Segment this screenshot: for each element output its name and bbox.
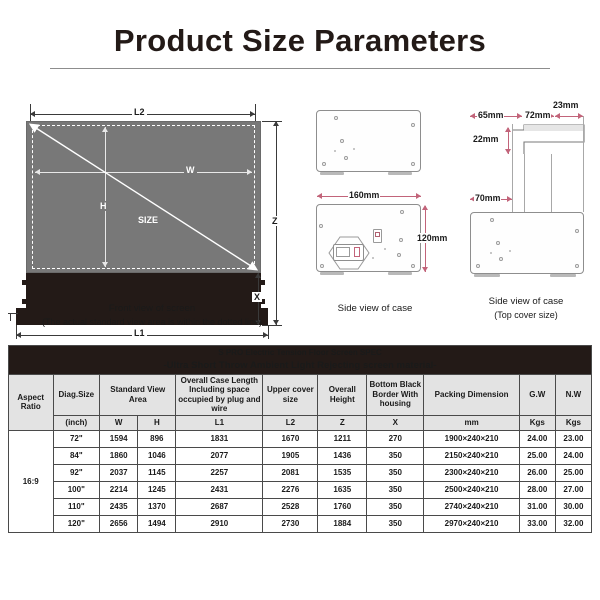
case-bracket-indicator (354, 247, 360, 257)
side-view-case-diagram: 160mm 120mm Side view of case (300, 96, 450, 342)
cell-z: 1535 (318, 464, 367, 481)
cell-w: 2435 (100, 498, 138, 515)
top-cover-edge-left (512, 124, 513, 212)
top-cover-base-panel (470, 212, 584, 274)
header-overall-height: Overall Height (318, 374, 367, 415)
case-upper-foot-right (388, 172, 412, 175)
side-view-case-caption-main: Side view of case (300, 303, 450, 316)
case-upper-hole-lower-mid (344, 156, 348, 160)
top-cover-profile-outline (512, 124, 590, 154)
top-cover-dot-b (509, 250, 511, 252)
front-view-caption: Front view of screen (The actual standar… (6, 303, 298, 328)
title-block: Product Size Parameters (0, 24, 600, 69)
top-cover-23mm-label: 23mm (552, 100, 579, 110)
unit-gross-weight: Kgs (519, 415, 555, 430)
case-lower-dot-a (384, 248, 386, 250)
cell-w: 1860 (100, 447, 138, 464)
cell-packing: 1900×240×210 (424, 430, 519, 447)
top-cover-70mm-label: 70mm (474, 193, 501, 203)
table-header-row-primary: Aspect Ratio Diag.Size Standard View Are… (9, 374, 592, 415)
cell-gw: 26.00 (519, 464, 555, 481)
cell-l2: 1670 (263, 430, 318, 447)
cell-w: 2214 (100, 481, 138, 498)
cell-z: 1760 (318, 498, 367, 515)
cell-l1: 1831 (176, 430, 263, 447)
cell-l1: 2077 (176, 447, 263, 464)
case-upper-hole-bl (322, 162, 326, 166)
case-width-label: 160mm (348, 190, 380, 200)
header-diag-size: Diag.Size (53, 374, 100, 415)
top-cover-70mm-arrow-right-icon (507, 196, 512, 202)
top-cover-65mm-arrow-right-icon (517, 113, 522, 119)
table-row: 120" 2656 1494 2910 2730 1884 350 2970×2… (9, 515, 592, 532)
header-packing-dimension: Packing Dimension (424, 374, 519, 415)
cell-l1: 2431 (176, 481, 263, 498)
unit-net-weight: Kgs (555, 415, 591, 430)
case-upper-hole-tr (411, 123, 415, 127)
cell-packing: 2970×240×210 (424, 515, 519, 532)
header-gross-weight: G.W (519, 374, 555, 415)
l1-label: L1 (132, 328, 147, 338)
top-cover-22mm-label: 22mm (472, 134, 499, 144)
side-view-top-cover-caption-main: Side view of case (452, 296, 600, 309)
l1-arrow-left-icon (16, 332, 21, 338)
top-cover-65mm-arrow-left-icon (470, 113, 475, 119)
unit-diag-size: (inch) (53, 415, 100, 430)
size-diagonal-line (26, 121, 261, 273)
l2-label: L2 (132, 107, 147, 117)
cell-diag: 110" (53, 498, 100, 515)
housing-clip-right-upper (261, 280, 265, 285)
side-view-top-cover-caption: Side view of case (Top cover size) (452, 296, 600, 321)
cell-l2: 2081 (263, 464, 318, 481)
case-upper-foot-left (320, 172, 344, 175)
side-view-top-cover-caption-sub: (Top cover size) (452, 309, 600, 321)
case-upper-hole-tl (334, 116, 338, 120)
header-upper-cover-size: Upper cover size (263, 374, 318, 415)
table-row: 100" 2214 1245 2431 2276 1635 350 2500×2… (9, 481, 592, 498)
top-cover-22mm-arrow-down-icon (505, 149, 511, 154)
size-label: SIZE (136, 215, 160, 225)
cell-packing: 2300×240×210 (424, 464, 519, 481)
case-lower-hole-br (411, 264, 415, 268)
cell-gw: 33.00 (519, 515, 555, 532)
housing-clip-left-upper (22, 280, 26, 285)
cell-gw: 28.00 (519, 481, 555, 498)
cell-z: 1635 (318, 481, 367, 498)
cell-x: 350 (367, 481, 424, 498)
top-cover-22mm-arrow-up-icon (505, 127, 511, 132)
l2-arrow-left-icon (30, 111, 35, 117)
table-row: 16:9 72" 1594 896 1831 1670 1211 270 190… (9, 430, 592, 447)
cell-gw: 24.00 (519, 430, 555, 447)
top-cover-foot-left (474, 274, 500, 277)
case-height-arrow-up-icon (422, 205, 428, 210)
unit-h: H (138, 415, 176, 430)
top-cover-dot-a (490, 252, 492, 254)
top-cover-foot-right (550, 274, 576, 277)
cell-x: 350 (367, 498, 424, 515)
x-arrow-up-icon (255, 273, 261, 278)
top-cover-hole-tr (575, 229, 579, 233)
cell-x: 270 (367, 430, 424, 447)
front-view-caption-sub: (The actual standard view area is within… (6, 316, 298, 328)
cell-diag: 120" (53, 515, 100, 532)
table-header-row-units: (inch) W H L1 L2 Z X mm Kgs Kgs (9, 415, 592, 430)
diagram-panel: L2 W H SIZE (0, 96, 600, 342)
cell-packing: 2740×240×210 (424, 498, 519, 515)
cell-nw: 23.00 (555, 430, 591, 447)
case-lower-hole-bl (320, 264, 324, 268)
case-height-label: 120mm (416, 233, 448, 243)
cell-diag: 84" (53, 447, 100, 464)
case-width-arrow-left-icon (317, 193, 322, 199)
case-lower-hole-tr (400, 210, 404, 214)
cell-l1: 2257 (176, 464, 263, 481)
cell-l1: 2910 (176, 515, 263, 532)
top-cover-hole-br (575, 264, 579, 268)
case-lower-hole-r2 (397, 253, 401, 257)
cell-x: 350 (367, 464, 424, 481)
header-overall-case-length: Overall Case Length Including space occu… (176, 374, 263, 415)
l1-arrow-right-icon (263, 332, 268, 338)
table-title-cell: S PRO Electric Tension Floor Screen SPEC… (9, 346, 592, 375)
title-underline-divider (50, 68, 550, 69)
l2-arrow-right-icon (250, 111, 255, 117)
table-title-line1: S PRO Electric Tension Floor Screen SPEC (10, 347, 590, 359)
header-net-weight: N.W (555, 374, 591, 415)
case-lower-dot-b (372, 257, 374, 259)
case-height-arrow-down-icon (422, 267, 428, 272)
unit-w: W (100, 415, 138, 430)
cell-z: 1884 (318, 515, 367, 532)
case-lower-foot-right (388, 272, 412, 275)
cell-diag: 72" (53, 430, 100, 447)
cell-h: 1145 (138, 464, 176, 481)
header-standard-view-area: Standard View Area (100, 374, 176, 415)
header-bottom-black-border: Bottom Black Border With housing (367, 374, 424, 415)
unit-l1: L1 (176, 415, 263, 430)
top-cover-65mm-label: 65mm (477, 110, 504, 120)
cell-nw: 24.00 (555, 447, 591, 464)
case-upper-dot-b (353, 148, 355, 150)
table-row: 84" 1860 1046 2077 1905 1436 350 2150×24… (9, 447, 592, 464)
case-upper-hole-mid (340, 139, 344, 143)
case-panel-upper (316, 110, 421, 172)
side-view-case-caption: Side view of case (300, 303, 450, 316)
cell-w: 1594 (100, 430, 138, 447)
cell-l2: 2730 (263, 515, 318, 532)
unit-z: Z (318, 415, 367, 430)
cell-nw: 32.00 (555, 515, 591, 532)
cell-x: 350 (367, 515, 424, 532)
cell-nw: 27.00 (555, 481, 591, 498)
cell-packing: 2500×240×210 (424, 481, 519, 498)
cell-gw: 31.00 (519, 498, 555, 515)
unit-l2: L2 (263, 415, 318, 430)
top-cover-23mm-arrow-left-icon (555, 113, 560, 119)
cell-w: 2656 (100, 515, 138, 532)
cell-diag: 92" (53, 464, 100, 481)
cell-l1: 2687 (176, 498, 263, 515)
top-cover-hole-mid (496, 241, 500, 245)
cell-z: 1211 (318, 430, 367, 447)
case-lower-foot-left (320, 272, 344, 275)
cell-l2: 2276 (263, 481, 318, 498)
cell-h: 896 (138, 430, 176, 447)
page-title: Product Size Parameters (0, 24, 600, 58)
cell-h: 1046 (138, 447, 176, 464)
table-row: 110" 2435 1370 2687 2528 1760 350 2740×2… (9, 498, 592, 515)
unit-x: X (367, 415, 424, 430)
case-lower-hole-tl (319, 224, 323, 228)
table-title-line2: -Ultra Short Throw Ambient Light Rejecti… (10, 359, 590, 373)
z-label: Z (270, 216, 280, 226)
cell-l2: 1905 (263, 447, 318, 464)
top-cover-hole-lower-mid (499, 257, 503, 261)
cell-w: 2037 (100, 464, 138, 481)
unit-packing: mm (424, 415, 519, 430)
side-view-top-cover-diagram: 23mm 65mm 72mm 22mm 70mm (452, 96, 600, 342)
top-cover-hole-bl (476, 264, 480, 268)
top-cover-support-right (551, 154, 552, 214)
top-cover-edge-right (583, 116, 584, 212)
cell-packing: 2150×240×210 (424, 447, 519, 464)
table-title-row: S PRO Electric Tension Floor Screen SPEC… (9, 346, 592, 375)
front-view-caption-main: Front view of screen (6, 303, 298, 316)
x-label: X (252, 292, 262, 302)
cell-x: 350 (367, 447, 424, 464)
case-width-arrow-right-icon (416, 193, 421, 199)
cell-h: 1494 (138, 515, 176, 532)
cell-nw: 30.00 (555, 498, 591, 515)
case-lower-hole-r1 (399, 238, 403, 242)
top-cover-hole-tl (490, 218, 494, 222)
case-bracket-window (336, 247, 350, 257)
specification-table: S PRO Electric Tension Floor Screen SPEC… (8, 345, 592, 533)
case-switch-inner (375, 232, 380, 237)
top-cover-support-left (524, 154, 525, 214)
cell-diag: 100" (53, 481, 100, 498)
cell-h: 1370 (138, 498, 176, 515)
z-tick-top (262, 121, 282, 122)
header-aspect-ratio: Aspect Ratio (9, 374, 54, 430)
case-upper-dot-a (334, 150, 336, 152)
top-cover-72mm-label: 72mm (524, 110, 551, 120)
cell-gw: 25.00 (519, 447, 555, 464)
cell-l2: 2528 (263, 498, 318, 515)
cell-h: 1245 (138, 481, 176, 498)
table-row: 92" 2037 1145 2257 2081 1535 350 2300×24… (9, 464, 592, 481)
case-upper-hole-br (411, 162, 415, 166)
cell-z: 1436 (318, 447, 367, 464)
aspect-ratio-value: 16:9 (9, 430, 54, 532)
cell-nw: 25.00 (555, 464, 591, 481)
